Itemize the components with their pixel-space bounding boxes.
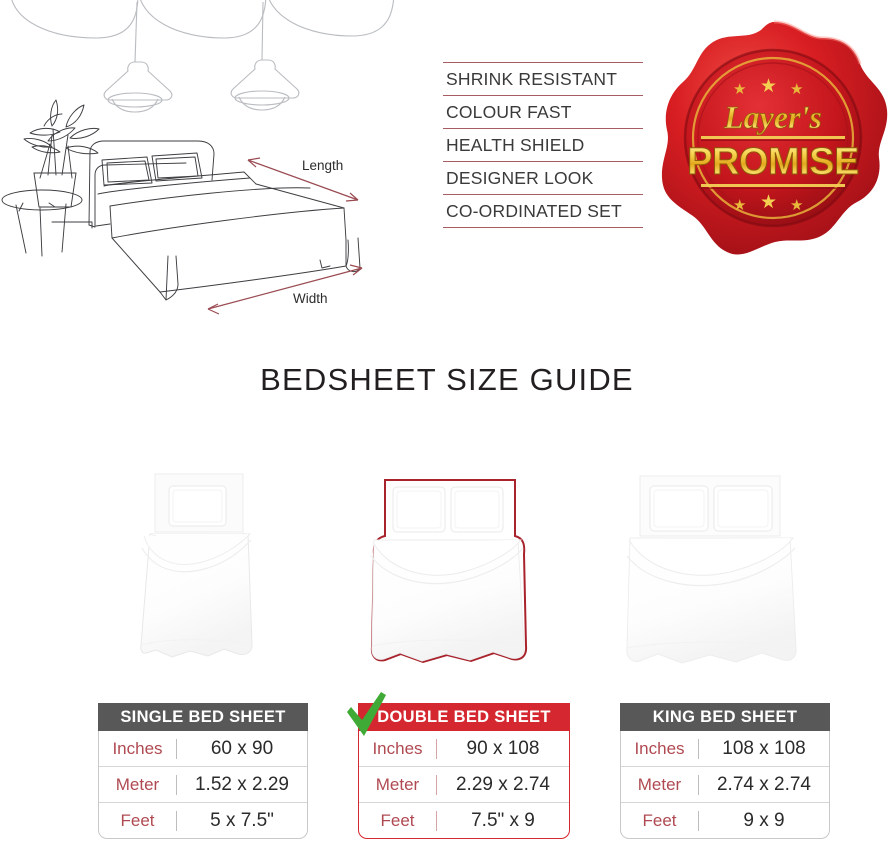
svg-text:★: ★ <box>733 197 746 214</box>
seal-brand-text: Layer's <box>723 99 822 135</box>
row-key: Feet <box>621 811 699 831</box>
table-header-king: KING BED SHEET <box>620 703 830 731</box>
row-key: Feet <box>359 811 437 831</box>
feature-item-colour-fast: COLOUR FAST <box>443 95 643 128</box>
feature-label: SHRINK RESISTANT <box>446 69 617 89</box>
svg-text:★: ★ <box>733 81 746 98</box>
row-value: 1.52 x 2.29 <box>177 774 307 796</box>
feature-label: CO-ORDINATED SET <box>446 201 622 221</box>
row-value: 108 x 108 <box>699 738 829 760</box>
svg-text:★: ★ <box>760 192 777 213</box>
features-list: SHRINK RESISTANT COLOUR FAST HEALTH SHIE… <box>443 62 643 228</box>
feature-item-shrink-resistant: SHRINK RESISTANT <box>443 62 643 95</box>
row-key: Meter <box>359 775 437 795</box>
svg-text:★: ★ <box>760 76 777 97</box>
layers-promise-seal-icon: ★ ★ ★ Layer's PROMISE ★ ★ ★ <box>655 18 893 270</box>
table-body-double: Inches 90 x 108 Meter 2.29 x 2.74 Feet 7… <box>358 731 570 839</box>
row-key: Feet <box>99 811 177 831</box>
size-table-double: DOUBLE BED SHEET Inches 90 x 108 Meter 2… <box>358 703 570 839</box>
table-body-single: Inches 60 x 90 Meter 1.52 x 2.29 Feet 5 … <box>98 731 308 839</box>
table-row: Feet 7.5" x 9 <box>359 803 569 838</box>
feature-item-designer-look: DESIGNER LOOK <box>443 161 643 194</box>
row-key: Inches <box>359 739 437 759</box>
row-value: 7.5" x 9 <box>437 810 569 832</box>
row-key: Meter <box>99 775 177 795</box>
length-label: Length <box>302 158 343 173</box>
feature-label: DESIGNER LOOK <box>446 168 594 188</box>
row-value: 5 x 7.5" <box>177 810 307 832</box>
table-row: Meter 2.74 x 2.74 <box>621 767 829 803</box>
feature-label: HEALTH SHIELD <box>446 135 584 155</box>
table-header-single: SINGLE BED SHEET <box>98 703 308 731</box>
seal-promise-text: PROMISE <box>687 141 859 183</box>
table-header-double: DOUBLE BED SHEET <box>358 703 570 731</box>
row-key: Inches <box>621 739 699 759</box>
row-key: Inches <box>99 739 177 759</box>
king-bed-photo <box>620 470 800 695</box>
row-value: 2.29 x 2.74 <box>437 774 569 796</box>
table-row: Meter 1.52 x 2.29 <box>99 767 307 803</box>
check-mark-icon <box>343 690 387 738</box>
feature-label: COLOUR FAST <box>446 102 572 122</box>
width-label: Width <box>293 291 328 306</box>
row-key: Meter <box>621 775 699 795</box>
double-bed-photo <box>363 470 529 695</box>
bedroom-line-drawing: Length Width <box>0 0 420 330</box>
table-row: Inches 90 x 108 <box>359 731 569 767</box>
feature-item-health-shield: HEALTH SHIELD <box>443 128 643 161</box>
table-body-king: Inches 108 x 108 Meter 2.74 x 2.74 Feet … <box>620 731 830 839</box>
svg-text:★: ★ <box>790 81 803 98</box>
table-row: Inches 60 x 90 <box>99 731 307 767</box>
page-title: BEDSHEET SIZE GUIDE <box>0 362 894 398</box>
table-row: Meter 2.29 x 2.74 <box>359 767 569 803</box>
row-value: 60 x 90 <box>177 738 307 760</box>
feature-item-co-ordinated-set: CO-ORDINATED SET <box>443 194 643 228</box>
size-table-single: SINGLE BED SHEET Inches 60 x 90 Meter 1.… <box>98 703 308 839</box>
size-table-king: KING BED SHEET Inches 108 x 108 Meter 2.… <box>620 703 830 839</box>
table-row: Feet 5 x 7.5" <box>99 803 307 838</box>
single-bed-photo <box>138 470 260 695</box>
table-row: Inches 108 x 108 <box>621 731 829 767</box>
row-value: 90 x 108 <box>437 738 569 760</box>
row-value: 9 x 9 <box>699 810 829 832</box>
table-row: Feet 9 x 9 <box>621 803 829 838</box>
row-value: 2.74 x 2.74 <box>699 774 829 796</box>
svg-text:★: ★ <box>790 197 803 214</box>
